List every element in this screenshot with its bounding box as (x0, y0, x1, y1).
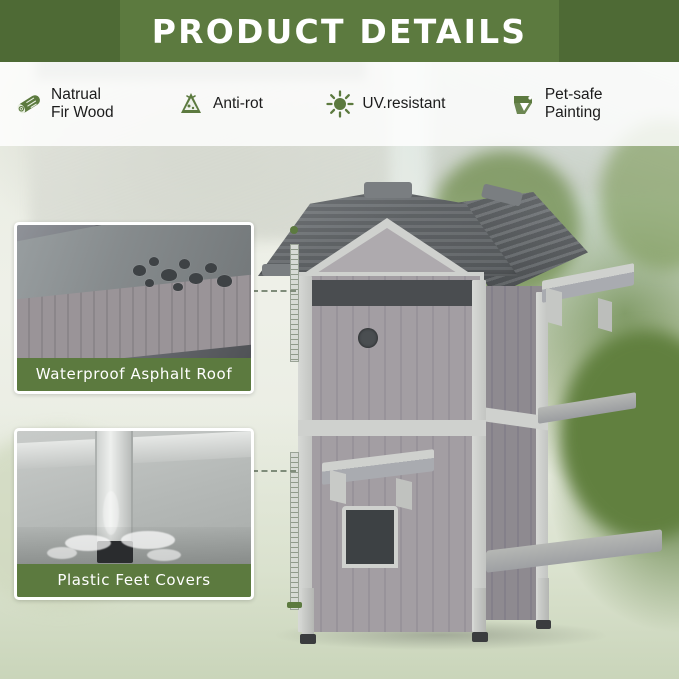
product-illustration (246, 168, 666, 648)
feature-pet-safe-label: Pet-safePainting (545, 86, 603, 123)
leader-line-feet (252, 470, 296, 472)
water-droplets (129, 255, 239, 293)
wood-log-icon (14, 89, 44, 119)
leg-back-right (538, 578, 549, 622)
water-splash-right (121, 531, 175, 549)
callout-waterproof-roof: Waterproof Asphalt Roof (14, 222, 254, 394)
foot-cover-front-left (300, 634, 316, 644)
corner-post-mid (472, 280, 486, 632)
paint-brush-icon (508, 89, 538, 119)
feature-fir-wood: NatrualFir Wood (14, 86, 176, 123)
callout-feet-beam (14, 430, 254, 469)
measure-bar-lower (290, 452, 299, 610)
foot-cover-back-right (536, 620, 551, 629)
feature-anti-rot: Anti-rot (176, 89, 325, 119)
product-details-page: Waterproof Asphalt Roof Plastic Feet Cov… (0, 0, 679, 679)
callout-feet-caption: Plastic Feet Covers (17, 564, 251, 597)
feature-fir-wood-line2: Fir Wood (51, 104, 114, 121)
header-banner: PRODUCT DETAILS (0, 0, 679, 62)
measure-cap-bottom (287, 602, 302, 608)
corner-post-right (536, 292, 548, 622)
awning-bracket-left (546, 288, 562, 327)
sun-uv-icon (325, 89, 355, 119)
feature-uv-resistant: UV.resistant (325, 89, 507, 119)
callout-plastic-feet: Plastic Feet Covers (14, 428, 254, 600)
feature-pet-safe-painting: Pet-safePainting (508, 86, 665, 123)
anti-rot-icon (176, 89, 206, 119)
leader-line-roof (252, 290, 296, 292)
foot-cover-front-right (472, 632, 488, 642)
leader-dot-roof (290, 226, 298, 234)
mid-divider-band (298, 420, 486, 436)
measure-bar-upper (290, 244, 299, 362)
feature-pet-safe-line2: Painting (545, 104, 601, 121)
feature-anti-rot-label: Anti-rot (213, 95, 263, 113)
feature-fir-wood-label: NatrualFir Wood (51, 86, 114, 123)
leg-front-left (302, 588, 314, 636)
water-splash-low-left (47, 547, 77, 559)
feature-pet-safe-line1: Pet-safe (545, 86, 603, 103)
entry-door (342, 506, 398, 568)
feature-strip: NatrualFir Wood Anti-rot (0, 62, 679, 146)
water-stream (103, 491, 119, 535)
corner-post-left (298, 276, 312, 632)
upper-balcony-shelf (538, 392, 636, 424)
door-awning-bracket-left (330, 470, 346, 504)
page-title: PRODUCT DETAILS (0, 0, 679, 62)
ventilation-hole (358, 328, 378, 348)
upper-window-band (306, 280, 478, 306)
feature-fir-wood-line1: Natrual (51, 86, 101, 103)
door-awning-bracket-right (396, 478, 412, 510)
callout-roof-caption: Waterproof Asphalt Roof (17, 358, 251, 391)
feature-uv-resistant-label: UV.resistant (362, 95, 445, 113)
awning-bracket-right (598, 298, 612, 332)
water-splash-low-right (147, 549, 181, 561)
roof-ridge-cap (364, 182, 412, 198)
leg-front-right (474, 588, 486, 634)
